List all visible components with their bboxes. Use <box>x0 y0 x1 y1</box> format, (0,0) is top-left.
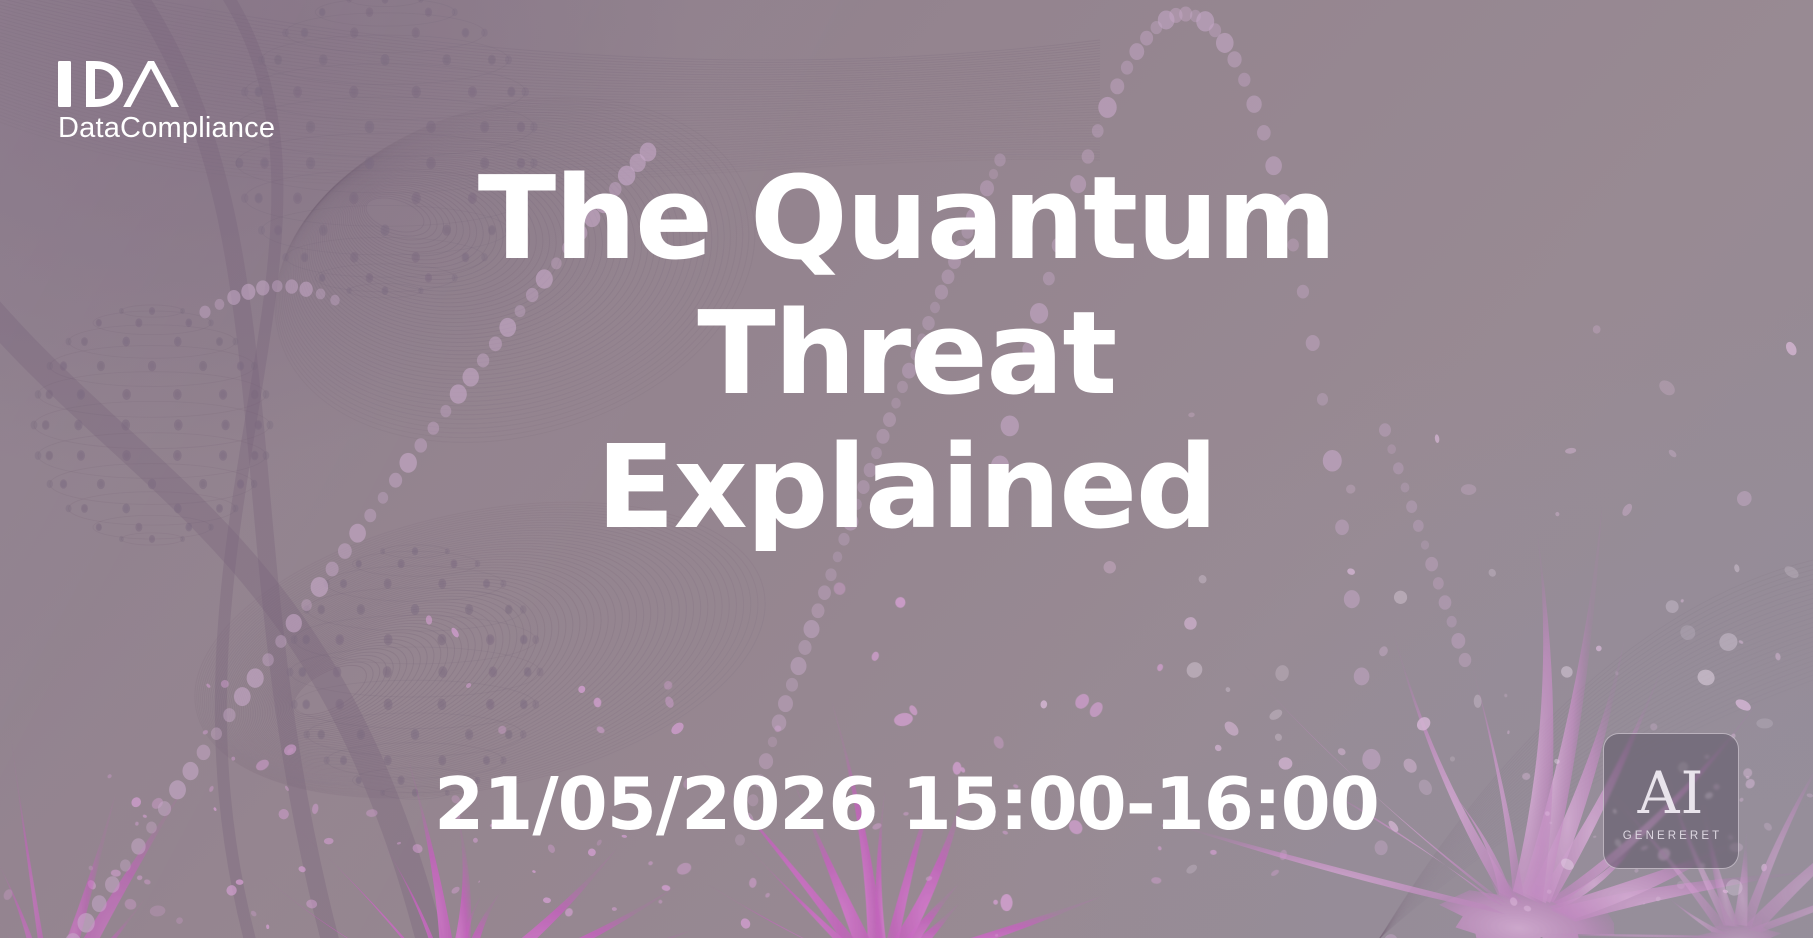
ai-badge-label: GENERERET <box>1620 831 1722 843</box>
ai-generated-badge: AI GENERERET <box>1603 733 1739 869</box>
brand-logo[interactable]: DataCompliance <box>58 60 275 143</box>
page-title: The Quantum Threat Explained <box>0 152 1813 556</box>
ai-badge-mark: AI <box>1638 764 1705 822</box>
title-line-3: Explained <box>170 421 1643 556</box>
event-datetime: 21/05/2026 15:00-16:00 <box>0 768 1813 840</box>
ida-logo-icon <box>58 60 180 108</box>
title-line-2: Threat <box>170 287 1643 422</box>
webinar-banner: DataCompliance The Quantum Threat Explai… <box>0 0 1813 938</box>
title-line-1: The Quantum <box>170 152 1643 287</box>
brand-name: DataCompliance <box>58 114 275 143</box>
